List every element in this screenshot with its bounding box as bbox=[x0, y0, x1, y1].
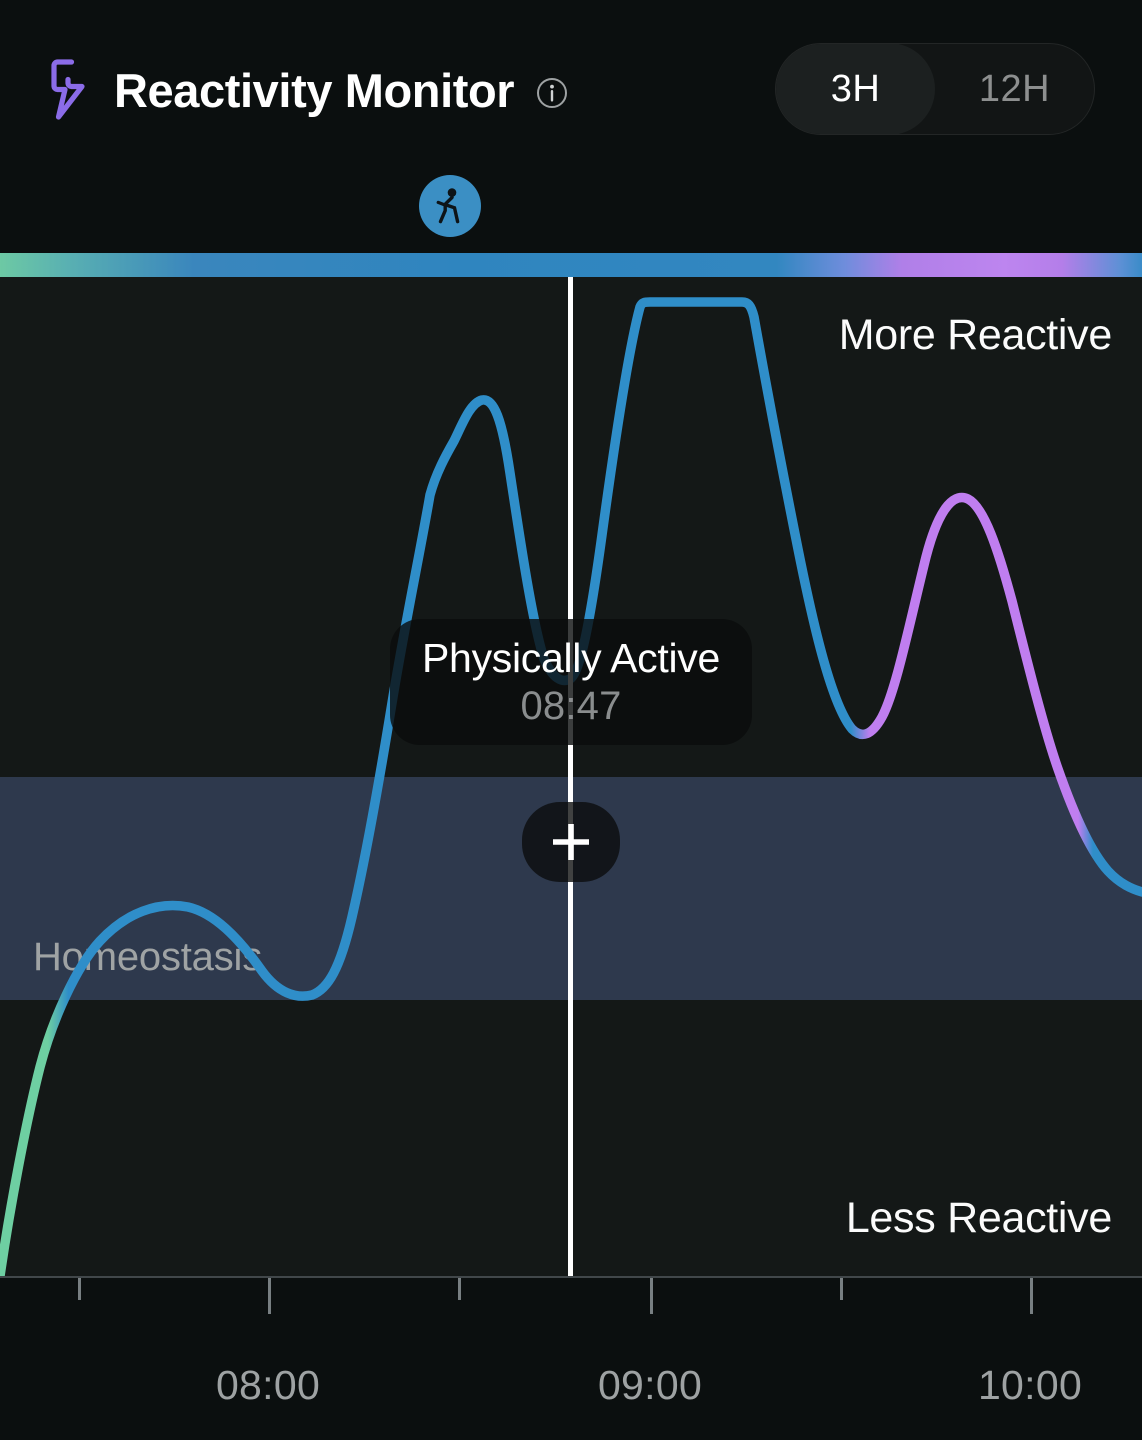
axis-tick-label: 08:00 bbox=[216, 1362, 320, 1409]
axis-tick-label: 09:00 bbox=[598, 1362, 702, 1409]
info-circle-icon[interactable] bbox=[514, 71, 568, 109]
reactivity-monitor-screen: Reactivity Monitor 3H 12H bbox=[0, 0, 1142, 1440]
tooltip-time: 08:47 bbox=[520, 681, 621, 731]
state-gradient-strip bbox=[0, 253, 1142, 277]
less-reactive-label: Less Reactive bbox=[846, 1194, 1112, 1243]
x-axis: 08:00 09:00 10:00 bbox=[0, 1276, 1142, 1440]
time-range-toggle[interactable]: 3H 12H bbox=[775, 43, 1095, 135]
header-bar: Reactivity Monitor 3H 12H bbox=[0, 0, 1142, 160]
axis-tick bbox=[1030, 1278, 1033, 1314]
add-event-button[interactable] bbox=[522, 802, 620, 882]
axis-baseline bbox=[0, 1276, 1142, 1278]
tooltip-title: Physically Active bbox=[422, 637, 720, 680]
event-marker-physically-active[interactable] bbox=[419, 175, 481, 237]
chart-plot-area[interactable]: Homeostasis More Reactive Less Reactive bbox=[0, 277, 1142, 1276]
axis-tick bbox=[78, 1278, 81, 1300]
axis-tick-label: 10:00 bbox=[978, 1362, 1082, 1409]
event-tooltip: Physically Active 08:47 bbox=[390, 619, 752, 745]
axis-tick bbox=[840, 1278, 843, 1300]
more-reactive-label: More Reactive bbox=[839, 311, 1112, 360]
cursor-scrub-line[interactable] bbox=[568, 277, 573, 1276]
axis-tick bbox=[650, 1278, 653, 1314]
lightning-bolt-icon bbox=[46, 59, 92, 121]
axis-tick bbox=[458, 1278, 461, 1300]
plus-icon bbox=[545, 816, 597, 868]
range-option-3h[interactable]: 3H bbox=[776, 43, 935, 135]
axis-tick bbox=[268, 1278, 271, 1314]
title-group: Reactivity Monitor bbox=[46, 44, 568, 136]
event-marker-row bbox=[0, 160, 1142, 250]
range-option-12h[interactable]: 12H bbox=[935, 43, 1094, 135]
walking-person-icon bbox=[433, 187, 467, 225]
page-title: Reactivity Monitor bbox=[114, 67, 514, 114]
